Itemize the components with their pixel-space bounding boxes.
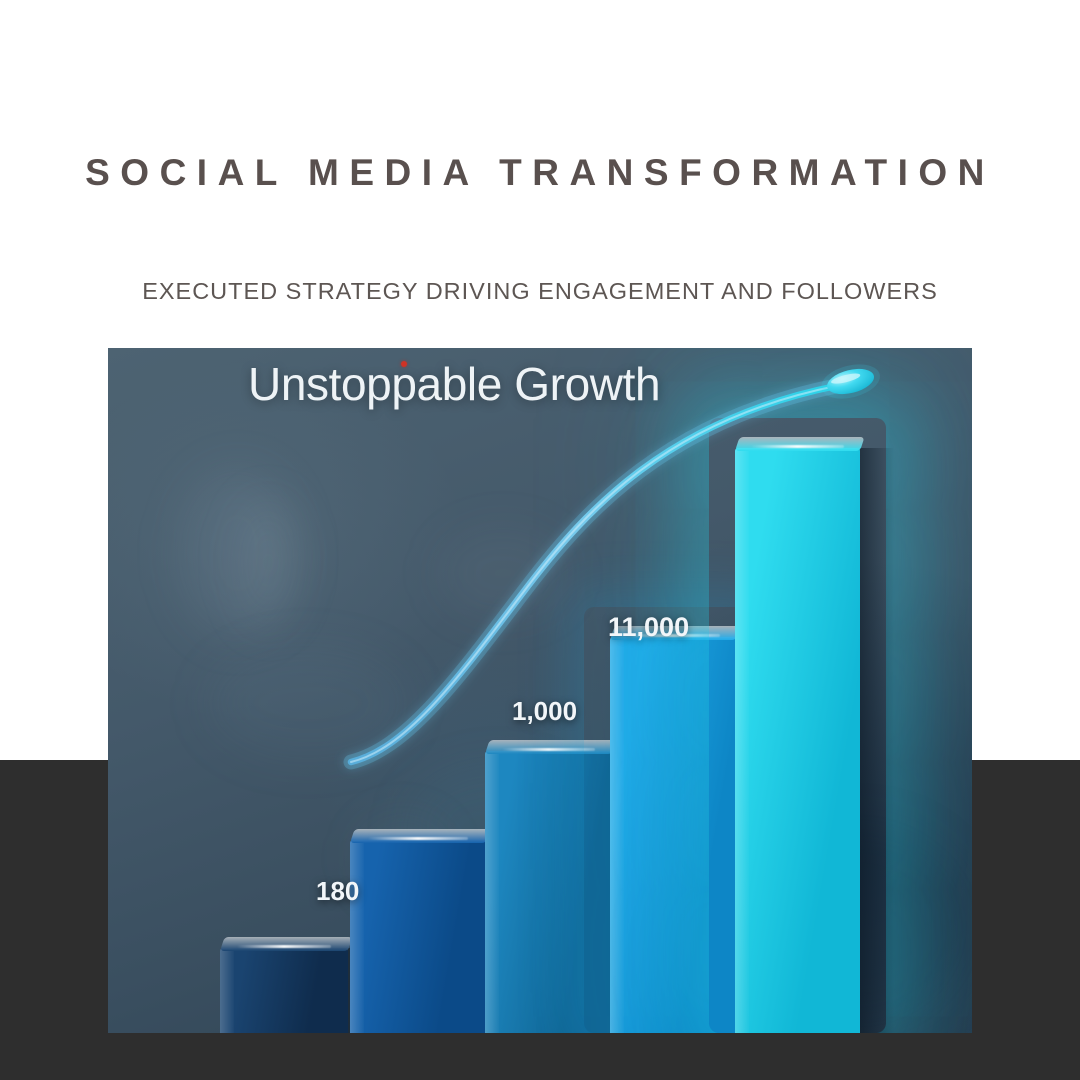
bar-top-face bbox=[220, 937, 353, 951]
bar-front-face bbox=[350, 840, 486, 1033]
chart-headline: Unstoppable Growth bbox=[248, 357, 660, 411]
bar-top-highlight bbox=[751, 445, 844, 448]
bar-4 bbox=[610, 637, 736, 1033]
bar-left-bevel bbox=[610, 637, 624, 1033]
bar-top-highlight bbox=[368, 837, 469, 840]
bar-front-face bbox=[220, 948, 348, 1033]
bar-top-highlight bbox=[502, 748, 596, 751]
page-title: SOCIAL MEDIA TRANSFORMATION bbox=[0, 152, 1080, 194]
value-label-1000: 1,000 bbox=[512, 696, 577, 727]
bar-2 bbox=[350, 840, 486, 1033]
bar-left-bevel bbox=[485, 751, 499, 1033]
bar-series bbox=[108, 348, 972, 1033]
bar-top-face bbox=[485, 740, 617, 754]
bar-top-highlight bbox=[237, 945, 332, 948]
bar-left-bevel bbox=[735, 448, 749, 1033]
red-accent-dot bbox=[401, 361, 407, 367]
bar-3 bbox=[485, 751, 612, 1033]
bar-front-face bbox=[735, 448, 860, 1033]
growth-chart-image: Unstoppable Growth bbox=[108, 348, 972, 1033]
bar-top-face bbox=[350, 829, 491, 843]
value-label-11000: 11,000 bbox=[608, 612, 689, 643]
bar-left-bevel bbox=[220, 948, 234, 1033]
value-label-180: 180 bbox=[316, 876, 359, 907]
page-subtitle: EXECUTED STRATEGY DRIVING ENGAGEMENT AND… bbox=[0, 278, 1080, 305]
bar-left-bevel bbox=[350, 840, 364, 1033]
bar-front-face bbox=[610, 637, 736, 1033]
bar-1 bbox=[220, 948, 348, 1033]
bar-top-face bbox=[735, 437, 865, 451]
bar-front-face bbox=[485, 751, 612, 1033]
bar-shadow bbox=[860, 448, 894, 1033]
bar-5 bbox=[735, 448, 860, 1033]
